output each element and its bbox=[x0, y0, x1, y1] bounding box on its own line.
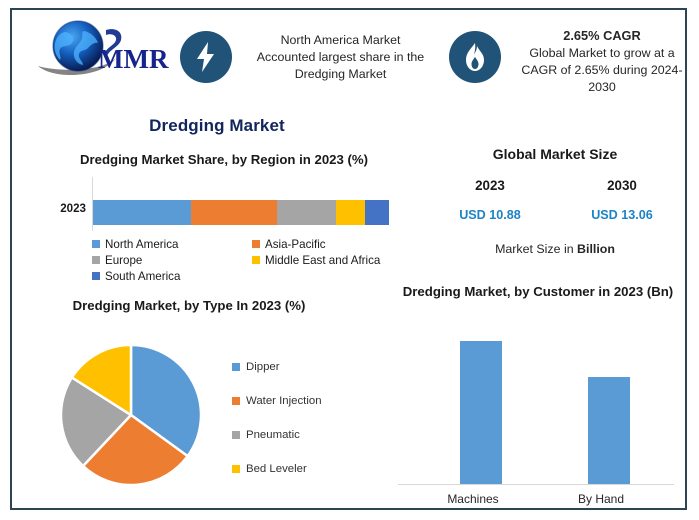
header-band: MMR North America Market Accounted large… bbox=[24, 12, 685, 94]
region-legend-item[interactable]: Middle East and Africa bbox=[252, 252, 412, 268]
region-legend-label: South America bbox=[105, 270, 180, 283]
legend-swatch-icon bbox=[252, 256, 260, 264]
unit-note-prefix: Market Size in bbox=[495, 242, 577, 256]
region-share-title: Dredging Market Share, by Region in 2023… bbox=[24, 152, 424, 167]
header-line: Accounted largest share in the bbox=[257, 50, 424, 64]
page-title: Dredging Market bbox=[52, 116, 382, 136]
legend-swatch-icon bbox=[92, 256, 100, 264]
region-share-bar bbox=[93, 200, 389, 225]
outer-frame: MMR North America Market Accounted large… bbox=[10, 8, 687, 510]
region-legend-item[interactable]: Asia-Pacific bbox=[252, 236, 412, 252]
market-size-year-2023: 2023 bbox=[435, 178, 545, 193]
type-legend-label: Bed Leveler bbox=[246, 463, 307, 475]
cagr-heading: 2.65% CAGR bbox=[507, 27, 697, 44]
type-legend-item[interactable]: Dipper bbox=[232, 350, 362, 384]
region-share-category-label: 2023 bbox=[38, 202, 86, 215]
legend-swatch-icon bbox=[92, 240, 100, 248]
region-segment-2 bbox=[277, 200, 336, 225]
customer-label-machines: Machines bbox=[423, 492, 523, 506]
header-line: Dredging Market bbox=[295, 67, 387, 81]
type-share-pie bbox=[46, 330, 216, 500]
region-share-chart: Dredging Market Share, by Region in 2023… bbox=[24, 152, 424, 292]
type-legend-label: Pneumatic bbox=[246, 429, 300, 441]
region-segment-0 bbox=[93, 200, 191, 225]
region-segment-1 bbox=[191, 200, 277, 225]
legend-swatch-icon bbox=[232, 431, 240, 439]
legend-swatch-icon bbox=[232, 465, 240, 473]
customer-title-line2: (Bn) bbox=[647, 284, 673, 299]
header-line: 2030 bbox=[588, 80, 616, 94]
lightning-bolt-icon bbox=[180, 31, 232, 83]
market-size-value-2023: USD 10.88 bbox=[435, 208, 545, 222]
header-line: Global Market to grow at a bbox=[529, 46, 674, 60]
customer-chart-title: Dredging Market, by Customer in 2023 (Bn… bbox=[392, 282, 684, 301]
region-legend-item[interactable]: North America bbox=[92, 236, 252, 252]
market-size-title: Global Market Size bbox=[412, 146, 698, 162]
global-market-size-panel: Global Market Size 2023 USD 10.88 2030 U… bbox=[412, 142, 698, 272]
region-segment-4 bbox=[365, 200, 389, 225]
legend-swatch-icon bbox=[252, 240, 260, 248]
market-size-unit-note: Market Size in Billion bbox=[412, 242, 698, 256]
type-legend-label: Water Injection bbox=[246, 395, 322, 407]
header-message-cagr: 2.65% CAGR Global Market to grow at a CA… bbox=[507, 27, 697, 96]
customer-plot-area bbox=[398, 324, 682, 484]
mmr-logo[interactable]: MMR bbox=[32, 18, 172, 86]
type-share-chart: Dredging Market, by Type In 2023 (%) Dip… bbox=[24, 298, 369, 520]
header-message-north-america: North America Market Accounted largest s… bbox=[238, 32, 443, 83]
region-legend-label: Middle East and Africa bbox=[265, 254, 380, 267]
flame-icon bbox=[449, 31, 501, 83]
customer-title-line1: Dredging Market, by Customer in 2023 bbox=[403, 284, 643, 299]
infographic-root: MMR North America Market Accounted large… bbox=[0, 0, 699, 520]
customer-label-by-hand: By Hand bbox=[551, 492, 651, 506]
region-share-legend: North AmericaAsia-PacificEuropeMiddle Ea… bbox=[92, 236, 412, 284]
customer-bar-machines bbox=[460, 341, 502, 484]
type-legend-item[interactable]: Water Injection bbox=[232, 384, 362, 418]
customer-axis-baseline bbox=[398, 484, 674, 485]
market-size-year-2030: 2030 bbox=[567, 178, 677, 193]
legend-swatch-icon bbox=[232, 363, 240, 371]
type-share-title: Dredging Market, by Type In 2023 (%) bbox=[24, 298, 354, 313]
header-line: North America Market bbox=[281, 33, 401, 47]
customer-bar-by-hand bbox=[588, 377, 630, 484]
header-line: CAGR of 2.65% during 2024- bbox=[521, 63, 682, 77]
unit-note-strong: Billion bbox=[577, 242, 615, 256]
region-legend-label: Europe bbox=[105, 254, 142, 267]
customer-chart: Dredging Market, by Customer in 2023 (Bn… bbox=[390, 280, 690, 516]
type-legend-label: Dipper bbox=[246, 361, 280, 373]
logo-text: MMR bbox=[98, 44, 169, 74]
mmr-logo-svg: MMR bbox=[32, 18, 172, 86]
legend-swatch-icon bbox=[232, 397, 240, 405]
market-size-value-2030: USD 13.06 bbox=[567, 208, 677, 222]
region-legend-item[interactable]: South America bbox=[92, 268, 252, 284]
region-legend-label: Asia-Pacific bbox=[265, 238, 326, 251]
region-legend-label: North America bbox=[105, 238, 178, 251]
flame-glyph bbox=[463, 41, 487, 73]
lightning-bolt-glyph bbox=[193, 41, 219, 73]
type-share-legend: DipperWater InjectionPneumaticBed Levele… bbox=[232, 350, 362, 486]
legend-swatch-icon bbox=[92, 272, 100, 280]
region-legend-item[interactable]: Europe bbox=[92, 252, 252, 268]
type-legend-item[interactable]: Pneumatic bbox=[232, 418, 362, 452]
type-legend-item[interactable]: Bed Leveler bbox=[232, 452, 362, 486]
region-segment-3 bbox=[336, 200, 366, 225]
